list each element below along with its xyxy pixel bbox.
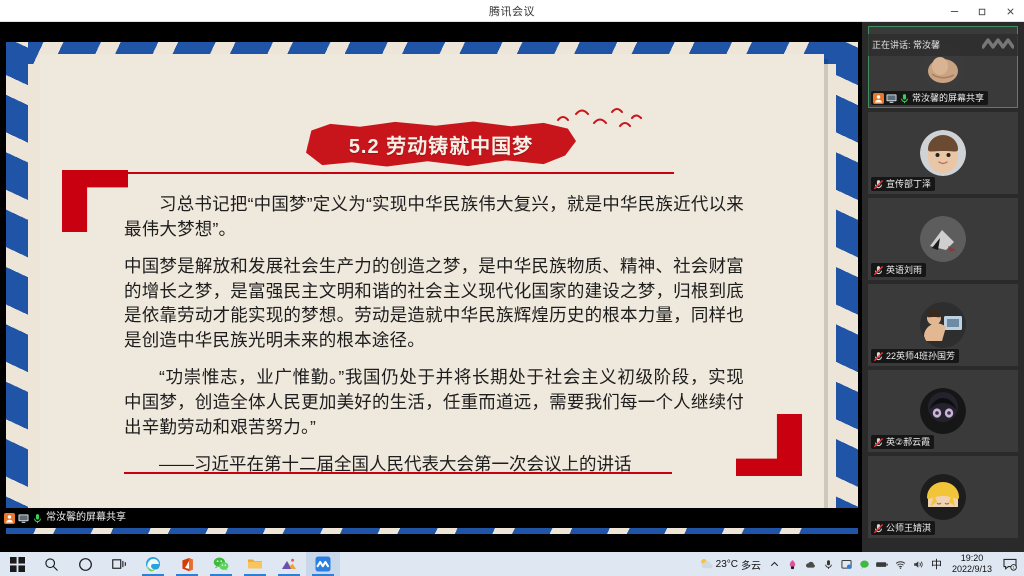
slide-body: 习总书记把“中国梦”定义为“实现中华民族伟大复兴，就是中华民族近代以来最伟大梦想… [124,192,744,476]
divider-line-top [126,172,674,174]
participant-name-bar: 常汝馨的屏幕共享 [871,91,988,105]
slide-attribution: ——习近平在第十二届全国人民代表大会第一次会议上的讲话 [124,452,744,477]
microphone-muted-icon [873,523,884,534]
minimize-button[interactable] [940,0,968,22]
slide-title-banner: 5.2 劳动铸就中国梦 [306,120,576,168]
wechat-icon [213,556,229,572]
tray-volume-icon[interactable] [909,552,927,576]
tray-wifi-icon[interactable] [891,552,909,576]
slide-paragraph-3: “功崇惟志，业广惟勤。”我国仍处于并将长期处于社会主义初级阶段，实现中国梦，创造… [124,365,744,440]
participant-tile[interactable]: 正在讲话: 常汝馨 [868,26,1018,108]
tray-microphone-icon[interactable] [819,552,837,576]
microphone-muted-icon [873,351,884,362]
participant-tile[interactable]: 公师王婧淇 [868,456,1018,538]
screen-share-icon [18,513,29,524]
microphone-on-icon [32,513,43,524]
tray-screenshot-icon[interactable] [837,552,855,576]
restore-button[interactable] [968,0,996,22]
wechat-tray-icon [859,559,870,570]
action-center-icon: 1 [1003,557,1017,571]
participant-name: 公师王婧淇 [886,522,931,534]
screen-share-label: 常汝馨的屏幕共享 [46,512,126,524]
participant-tile[interactable]: 英语刘雨 [868,198,1018,280]
windows-taskbar: 23°C 多云 [0,552,1024,576]
tray-battery-icon[interactable] [873,552,891,576]
tray-wechat-icon[interactable] [855,552,873,576]
active-speaker-label: 正在讲话: 常汝馨 [872,39,940,51]
screen-share-status-strip: 常汝馨的屏幕共享 [0,508,862,528]
participant-name-bar: 公师王婧淇 [871,521,935,535]
office-button[interactable] [170,552,204,576]
microphone-muted-icon [873,265,884,276]
system-tray: 23°C 多云 [695,552,1024,576]
microphone-muted-icon [873,437,884,448]
slide-border-left [6,42,28,534]
explorer-button[interactable] [238,552,272,576]
slide-border-right [836,42,858,534]
task-view-icon [112,557,127,572]
ime-indicator[interactable]: 中 [927,556,946,572]
wechat-button[interactable] [204,552,238,576]
participant-name: 宣传部丁泽 [886,178,931,190]
slide-title: 5.2 劳动铸就中国梦 [306,120,576,168]
meeting-icon [315,556,331,572]
close-button[interactable] [996,0,1024,22]
participant-panel[interactable]: 正在讲话: 常汝馨 [862,22,1024,552]
wifi-icon [895,559,906,570]
participant-tile[interactable]: 英②郝云霞 [868,370,1018,452]
host-person-icon [4,513,15,524]
microphone-muted-icon [873,179,884,190]
participant-name: 英语刘雨 [886,264,922,276]
partly-cloudy-icon [699,557,713,571]
weather-widget[interactable]: 23°C 多云 [695,557,765,572]
participant-name: 英②郝云霞 [886,436,930,448]
taskbar-clock[interactable]: 19:20 2022/9/13 [946,553,998,575]
task-view-button[interactable] [102,552,136,576]
folder-icon [247,556,263,572]
participant-tile[interactable]: 宣传部丁泽 [868,112,1018,194]
search-button[interactable] [34,552,68,576]
weather-temp: 23°C [716,559,738,570]
avatar [920,474,966,520]
photos-icon [281,556,297,572]
participant-name: 22英师4班孙国芳 [886,350,955,362]
participant-tile[interactable]: 22英师4班孙国芳 [868,284,1018,366]
start-button[interactable] [0,552,34,576]
clock-time: 19:20 [961,553,984,564]
minimize-icon [949,6,960,17]
participant-name-bar: 宣传部丁泽 [871,177,935,191]
office-icon [180,557,195,572]
screen-share-icon [886,93,897,104]
window-title: 腾讯会议 [489,3,535,19]
capture-icon [841,559,852,570]
close-icon [1005,6,1016,17]
host-person-icon [873,93,884,104]
participant-name-bar: 英语刘雨 [871,263,926,277]
taskbar-apps [0,552,340,576]
windows-logo-icon [10,557,25,572]
slide-paragraph-1: 习总书记把“中国梦”定义为“实现中华民族伟大复兴，就是中华民族近代以来最伟大梦想… [124,192,744,242]
microphone-icon [823,559,834,570]
speaker-icon [913,559,924,570]
tray-overflow-button[interactable] [765,552,783,576]
participant-name-bar: 英②郝云霞 [871,435,934,449]
cloud-icon [805,559,816,570]
meeting-watermark-icon [982,36,1014,52]
restore-icon [977,6,988,17]
window-title-bar: 腾讯会议 [0,0,1024,22]
avatar [920,216,966,262]
edge-icon [145,556,161,572]
microphone-on-icon [899,93,910,104]
clock-date: 2022/9/13 [952,564,992,575]
avatar [920,130,966,176]
shared-screen-stage: 5.2 劳动铸就中国梦 习总书记把“中国梦”定义为“实现中华民族伟大复兴，就是中… [0,22,862,552]
avatar [920,302,966,348]
tray-app-icon[interactable] [783,552,801,576]
weather-condition: 多云 [741,557,761,572]
circle-icon [78,557,93,572]
search-icon [44,557,59,572]
screen-root: 腾讯会议 [0,0,1024,576]
window-controls [940,0,1024,22]
chevron-up-icon [769,559,780,570]
participant-name: 常汝馨的屏幕共享 [912,92,984,104]
pink-app-icon [787,559,798,570]
avatar [920,388,966,434]
tencent-meeting-button[interactable] [306,552,340,576]
participant-name-bar: 22英师4班孙国芳 [871,349,959,363]
slide-paragraph-2: 中国梦是解放和发展社会生产力的创造之梦，是中华民族物质、精神、社会财富的增长之梦… [124,254,744,353]
edge-button[interactable] [136,552,170,576]
battery-icon [874,559,890,570]
presentation-slide: 5.2 劳动铸就中国梦 习总书记把“中国梦”定义为“实现中华民族伟大复兴，就是中… [6,42,858,534]
notification-center-button[interactable]: 1 [998,552,1022,576]
photos-button[interactable] [272,552,306,576]
tray-cloud-icon[interactable] [801,552,819,576]
cortana-button[interactable] [68,552,102,576]
